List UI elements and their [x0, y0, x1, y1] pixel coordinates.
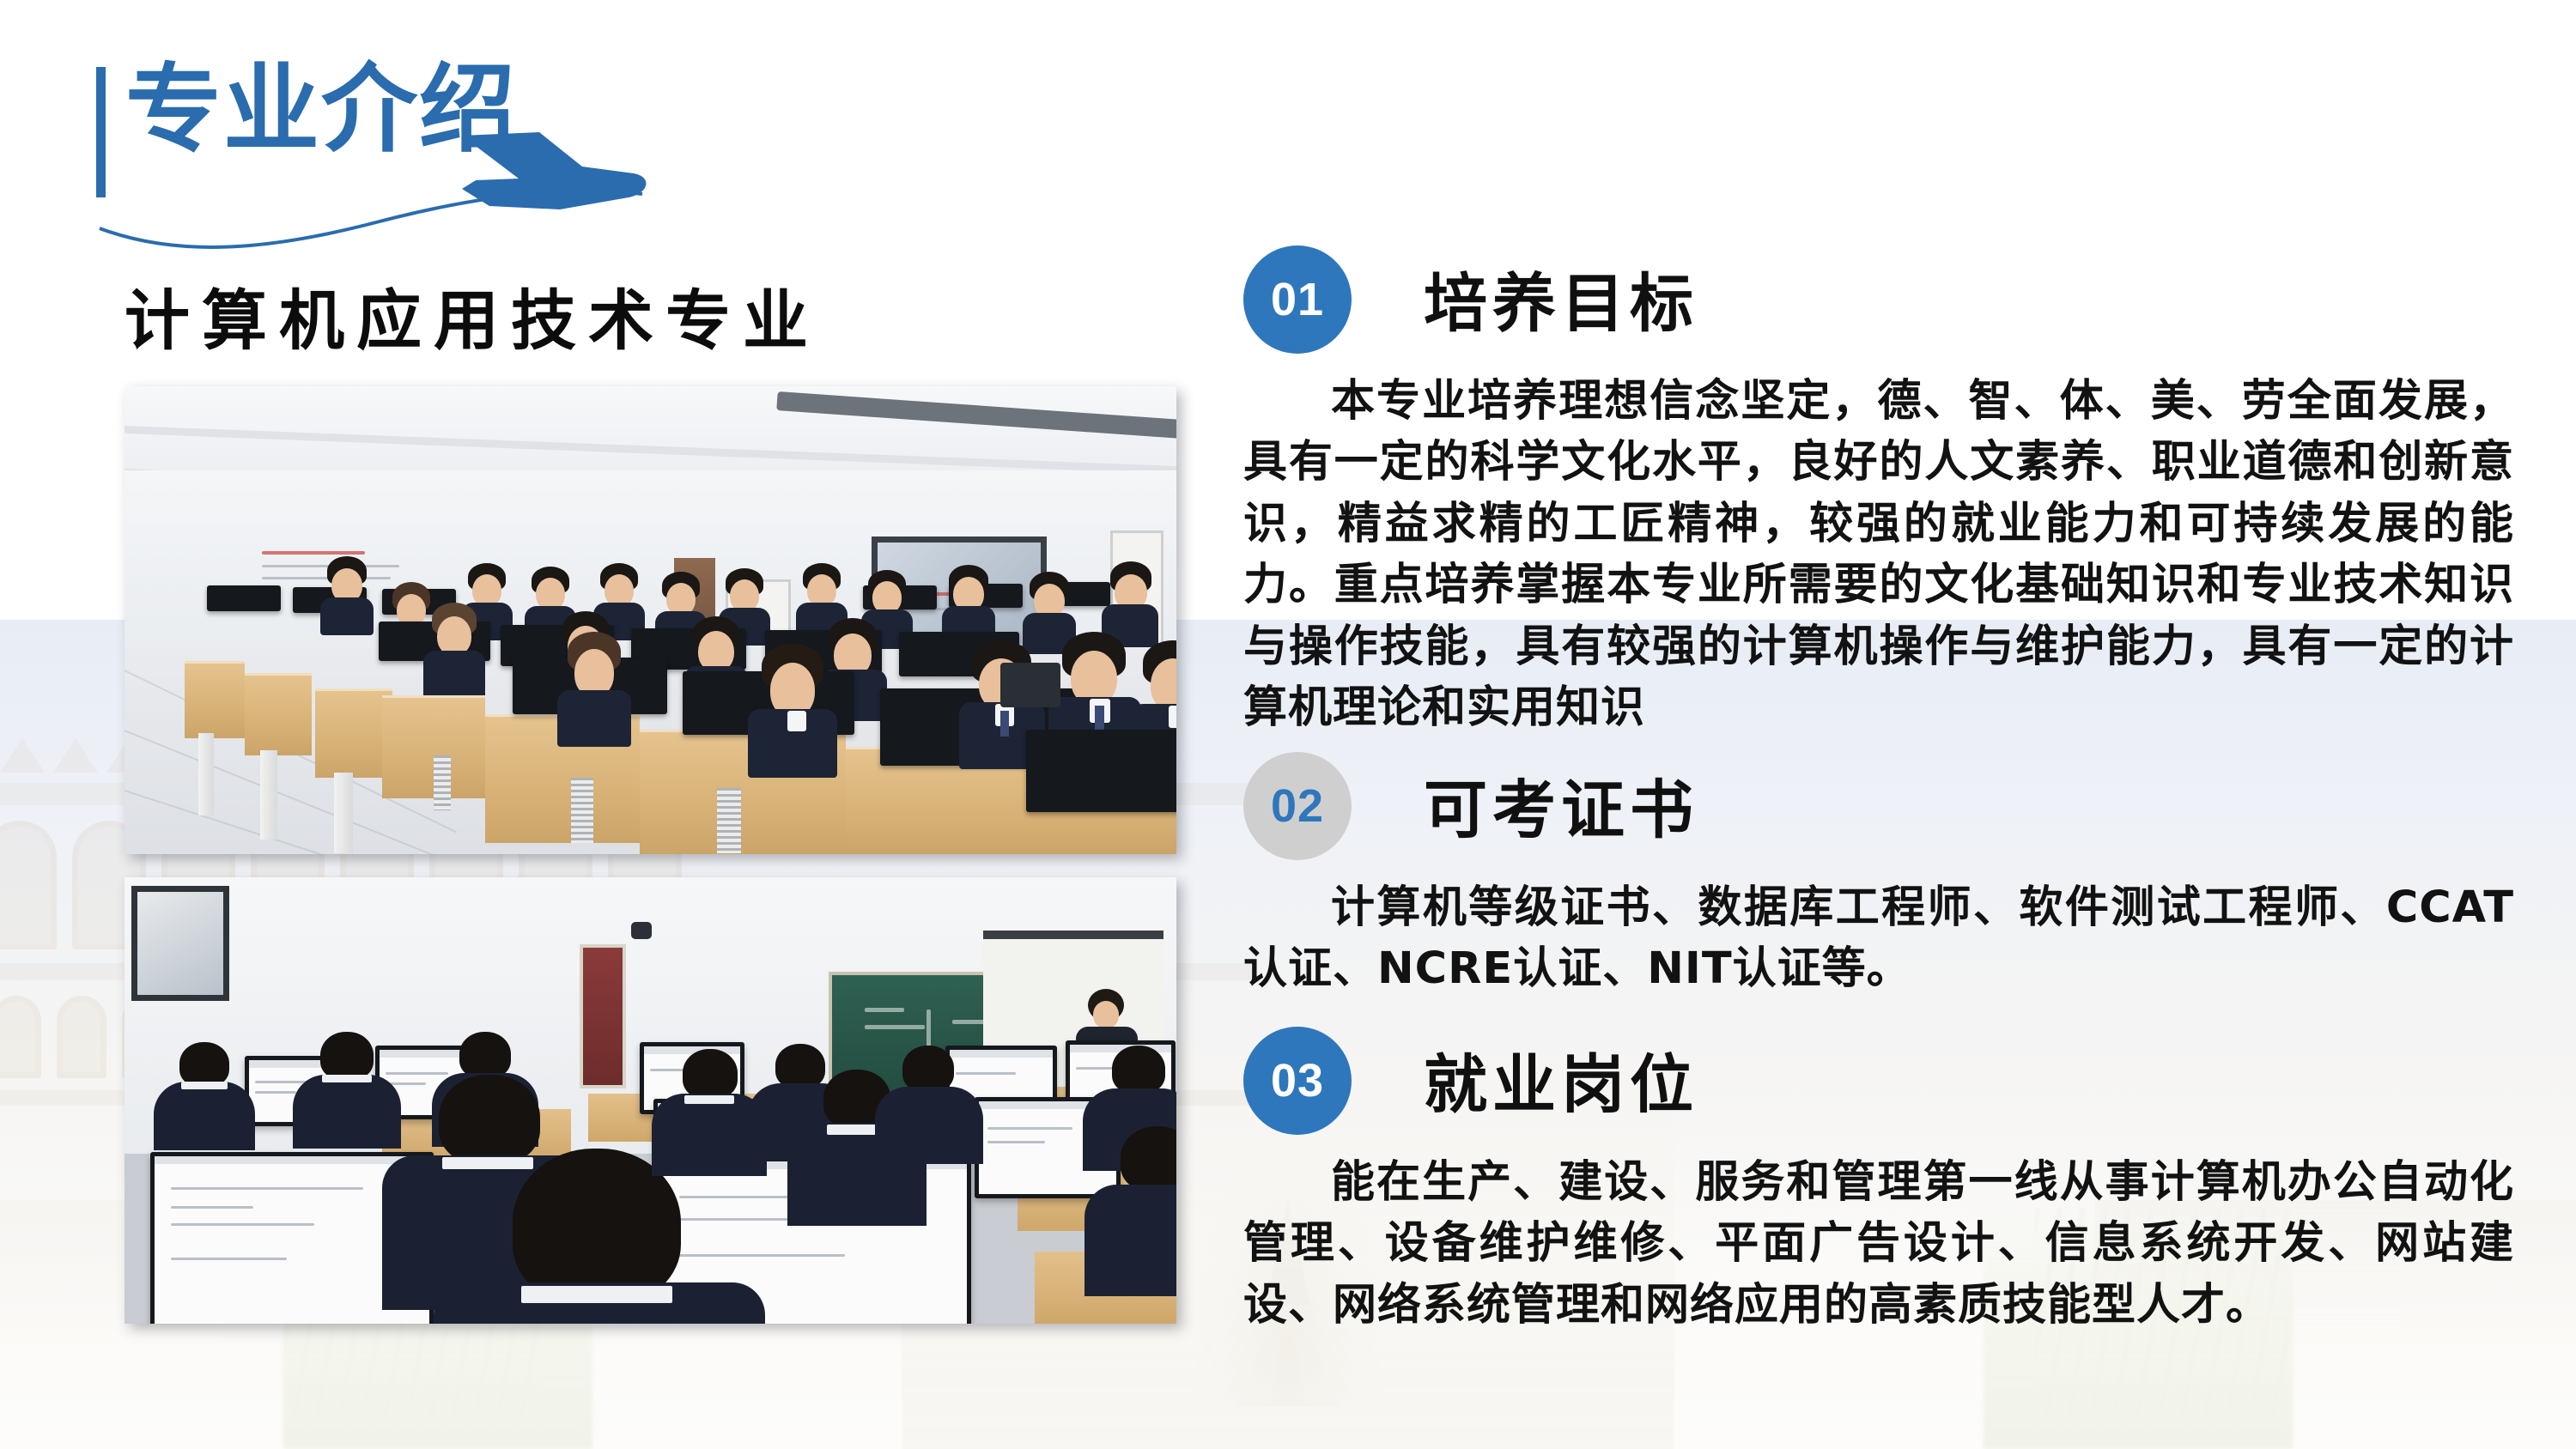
- section-body-03: 能在生产、建设、服务和管理第一线从事计算机办公自动化管理、设备维护维修、平面广告…: [1243, 1152, 2514, 1336]
- section-header: 01 培养目标: [1243, 246, 2514, 359]
- section-header: 03 就业岗位: [1243, 1027, 2514, 1140]
- section-badge-02: 02: [1243, 752, 1352, 860]
- classroom-photo: [125, 877, 1176, 1324]
- computer-lab-photo: [125, 386, 1176, 854]
- section-title-03: 就业岗位: [1424, 1034, 1698, 1125]
- slide-header: 专业介绍: [96, 52, 697, 223]
- major-name-title: 计算机应用技术专业: [125, 268, 820, 362]
- section-body-01: 本专业培养理想信念坚定，德、智、体、美、劳全面发展，具有一定的科学文化水平，良好…: [1243, 371, 2514, 738]
- section-badge-03: 03: [1243, 1027, 1352, 1135]
- slide-root: 专业介绍 计算机应用技术专业: [0, 0, 2576, 1449]
- section-就业岗位: 03 就业岗位 能在生产、建设、服务和管理第一线从事计算机办公自动化管理、设备维…: [1243, 1027, 2514, 1336]
- section-title-01: 培养目标: [1424, 252, 1698, 344]
- section-培养目标: 01 培养目标 本专业培养理想信念坚定，德、智、体、美、劳全面发展，具有一定的科…: [1243, 246, 2514, 738]
- section-可考证书: 02 可考证书 计算机等级证书、数据库工程师、软件测试工程师、CCAT认证、NC…: [1243, 752, 2514, 1000]
- section-header: 02 可考证书: [1243, 752, 2514, 865]
- airplane-icon: [457, 127, 654, 230]
- section-body-02: 计算机等级证书、数据库工程师、软件测试工程师、CCAT认证、NCRE认证、NIT…: [1243, 877, 2514, 1000]
- section-badge-01: 01: [1243, 246, 1352, 354]
- section-title-02: 可考证书: [1424, 759, 1698, 851]
